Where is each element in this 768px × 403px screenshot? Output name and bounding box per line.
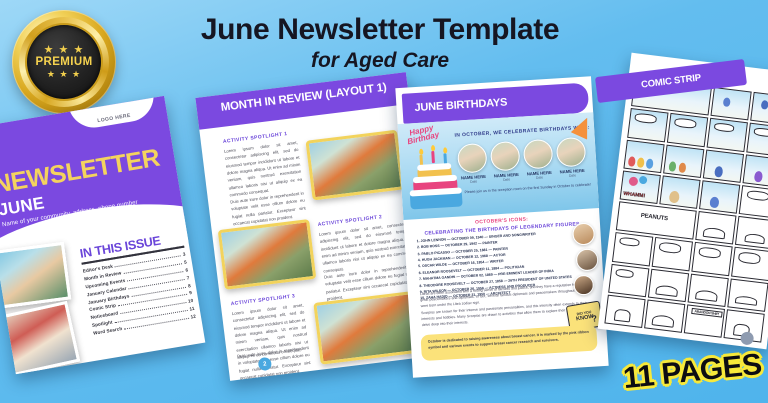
comic-title-peanuts-2: PEANUTS bbox=[638, 213, 670, 223]
happy-birthday-script: Happy Birthday bbox=[405, 123, 440, 147]
comic-panel bbox=[699, 180, 740, 214]
birthdays-invite-note: Please join us in the reception room on … bbox=[464, 182, 592, 195]
comic-panel bbox=[663, 144, 704, 178]
logo-placeholder-label: LOGO HERE bbox=[97, 113, 131, 124]
comic-strip-label: COMIC STRIP bbox=[641, 72, 702, 90]
figure-photo-1 bbox=[572, 222, 595, 245]
birthdays-heading: JUNE BIRTHDAYS bbox=[414, 96, 507, 114]
newsletter-cover-page[interactable]: LOGO HERE NEWSLETTER JUNE Name of your c… bbox=[0, 96, 205, 374]
review-photo-3 bbox=[313, 291, 418, 364]
table-of-contents: IN THIS ISSUE Editor's Desk3 Month in Re… bbox=[79, 230, 197, 338]
figure-photo-2 bbox=[576, 248, 599, 271]
comic-panel bbox=[608, 263, 649, 297]
comic-panel bbox=[703, 149, 744, 183]
comic-panel bbox=[735, 216, 768, 250]
page-number-badge bbox=[740, 331, 754, 345]
comic-panel bbox=[648, 268, 689, 302]
pages-count-badge: 11 PAGES bbox=[622, 348, 764, 396]
premium-badge-label: PREMIUM bbox=[35, 57, 92, 69]
comic-panel bbox=[623, 139, 664, 173]
star-icon-row-top: ★ ★ ★ bbox=[44, 45, 85, 56]
birthday-person[interactable]: NAME HERE Date bbox=[457, 143, 488, 185]
review-photo-2 bbox=[218, 219, 317, 290]
page-title: June Newsletter Template bbox=[180, 14, 580, 46]
question-mark-icon: ? bbox=[591, 313, 598, 324]
birthday-person[interactable]: NAME HERE Date bbox=[490, 141, 521, 183]
avatar bbox=[556, 137, 587, 168]
comic-panel bbox=[604, 294, 645, 328]
avatar bbox=[457, 143, 488, 174]
cover-photo-craft-activity bbox=[0, 301, 80, 374]
toc-item-page: 12 bbox=[190, 313, 197, 322]
birthday-people-row: NAME HERE Date NAME HERE Date NAME HERE … bbox=[457, 136, 595, 184]
toc-list: Editor's Desk3 Month in Review5 Upcoming… bbox=[82, 251, 196, 338]
comic-panel bbox=[743, 154, 768, 188]
comic-panel bbox=[739, 185, 768, 219]
comic-sfx: WHAMM! bbox=[623, 191, 646, 200]
comic-panel bbox=[707, 118, 748, 152]
poster-canvas: ★ ★ ★ PREMIUM ★ ★ ★ June Newsletter Temp… bbox=[0, 0, 768, 403]
premium-badge-inner: ★ ★ ★ PREMIUM ★ ★ ★ bbox=[27, 25, 101, 99]
comic-panel bbox=[627, 108, 668, 142]
comic-panel bbox=[644, 299, 685, 333]
june-birthdays-page[interactable]: JUNE BIRTHDAYS Happy Birthday bbox=[395, 76, 608, 377]
comic-panel bbox=[750, 92, 768, 126]
avatar bbox=[490, 141, 521, 172]
comic-panel bbox=[710, 87, 751, 121]
figure-photo-3 bbox=[573, 275, 594, 296]
review-heading: MONTH IN REVIEW (LAYOUT 1) bbox=[220, 82, 387, 114]
birthday-person[interactable]: NAME HERE Date bbox=[523, 139, 554, 181]
cover-photo-elderly-woman bbox=[0, 242, 71, 309]
premium-badge: ★ ★ ★ PREMIUM ★ ★ ★ bbox=[12, 10, 116, 114]
headline-block: June Newsletter Template for Aged Care bbox=[180, 14, 580, 73]
comic-panel bbox=[727, 278, 768, 312]
star-icon-row-bottom: ★ ★ ★ bbox=[47, 70, 81, 79]
birthdays-hero: Happy Birthday IN OCTOBER, WE CELEBRATE … bbox=[398, 112, 599, 220]
avatar bbox=[523, 139, 554, 170]
comic-panel bbox=[667, 113, 708, 147]
comic-panel bbox=[612, 232, 653, 266]
comic-panel bbox=[688, 273, 729, 307]
breast-cancer-callout: October is dedicated to raising awarenes… bbox=[420, 324, 597, 361]
comic-panel bbox=[695, 211, 736, 245]
comic-panel bbox=[691, 242, 732, 276]
comic-panel bbox=[731, 247, 768, 281]
review-photo-1 bbox=[305, 130, 404, 201]
comic-panel-text: ABANDON SHIP! bbox=[691, 308, 722, 318]
birthday-cake-icon bbox=[407, 144, 463, 209]
comic-grid: PEANUTS bbox=[604, 77, 768, 342]
comic-panel: ABANDON SHIP! bbox=[684, 304, 725, 338]
comic-panel: WHAMM! bbox=[620, 170, 661, 204]
page-subtitle: for Aged Care bbox=[180, 49, 580, 73]
comic-panel bbox=[659, 175, 700, 209]
birthday-person[interactable]: NAME HERE Date bbox=[556, 137, 587, 179]
comic-panel bbox=[746, 123, 768, 157]
comic-panel bbox=[652, 237, 693, 271]
